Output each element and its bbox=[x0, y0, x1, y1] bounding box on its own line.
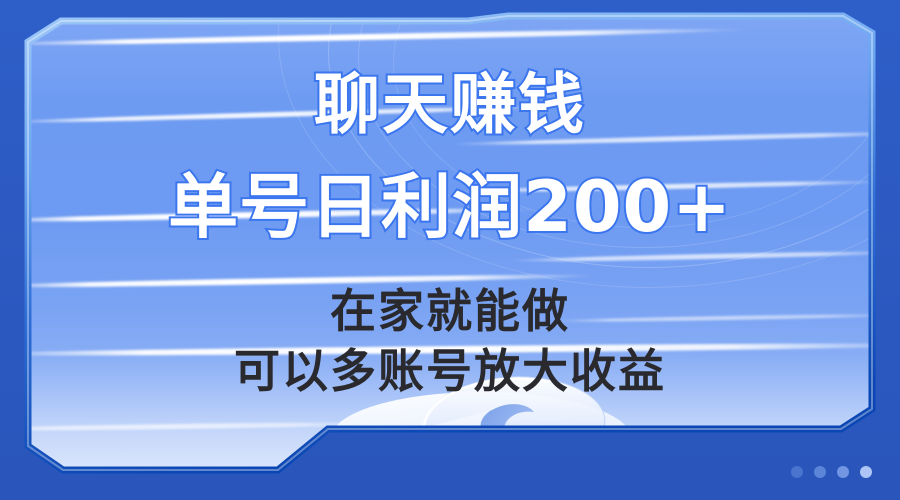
carousel-pager[interactable] bbox=[791, 466, 872, 478]
banner-frame bbox=[28, 16, 872, 484]
pager-dot-4[interactable] bbox=[860, 466, 872, 478]
pager-dot-3[interactable] bbox=[837, 466, 849, 478]
pager-dot-1[interactable] bbox=[791, 466, 803, 478]
pager-dot-2[interactable] bbox=[814, 466, 826, 478]
promo-banner: 聊天赚钱 单号日利润200+ 在家就能做 可以多账号放大收益 bbox=[0, 0, 900, 500]
